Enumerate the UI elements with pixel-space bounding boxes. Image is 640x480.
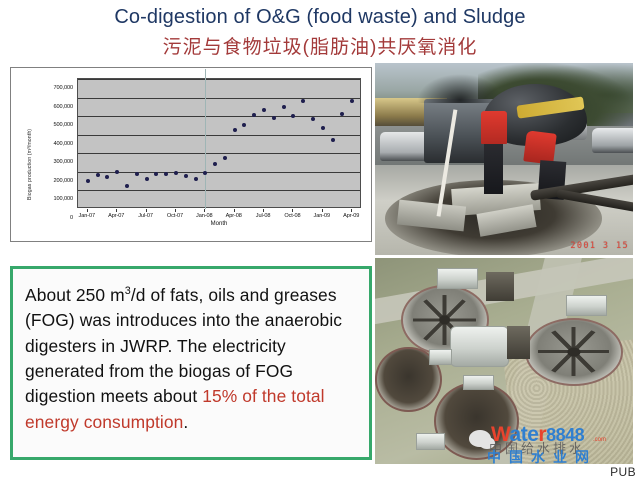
callout-paragraph: About 250 m3/d of fats, oils and greases… [25,279,357,435]
chart-data-point [233,128,237,132]
watermark-letter-r: r [538,423,546,446]
chart-year-divider [205,69,206,209]
chart-data-point [115,170,119,174]
chart-y-tick-label: 0 [70,215,73,221]
watermark-water8848: 中国给水排水 Water8848 .com 中国水业网 [469,420,629,462]
equipment-house-right [566,295,607,316]
chart-x-tickmark [87,209,88,212]
chart-x-tick-label: Oct-08 [284,213,300,219]
chart-x-tick-label: Apr-07 [108,213,124,219]
chart-data-point [105,175,109,179]
chart-gridline [78,98,360,99]
chart-y-tick-label: 700,000 [53,85,73,91]
watermark-brandmark: Water8848 [491,424,584,445]
chart-data-point [301,99,305,103]
photo-grease-collection-truck: 2001 3 15 [375,63,633,255]
clarifier-hub-1 [439,315,451,324]
chart-x-tickmark [263,209,264,212]
chart-x-tickmark [234,209,235,212]
chart-data-point [340,112,344,116]
chart-x-tickmark [351,209,352,212]
watermark-letter-e: e [527,423,538,446]
callout-text-a: About 250 m [25,285,125,305]
chart-gridline [78,172,360,173]
chart-y-tick-label: 600,000 [53,104,73,110]
watermark-chinese-main: 中国水业网 [487,447,597,464]
chart-y-tick-label: 100,000 [53,196,73,202]
parked-car-right [592,128,633,153]
callout-textbox: About 250 m3/d of fats, oils and greases… [10,266,372,460]
chart-x-tickmark [322,209,323,212]
chart-gridline [78,135,360,136]
chart-data-point [262,108,266,112]
chart-x-tickmark [204,209,205,212]
chart-data-point [331,138,335,142]
chart-x-tick-label: Jan-09 [314,213,331,219]
chart-x-tick-label: Jul-08 [256,213,271,219]
worker-standing [481,111,507,194]
chart-y-tick-label: 300,000 [53,159,73,165]
biogas-production-chart: Biogas production (m³/month) 0100,000200… [10,67,372,242]
chart-x-axis-label: Month [77,221,361,227]
concrete-pad [416,433,444,449]
chart-x-tick-label: Jul-07 [138,213,153,219]
callout-period: . [183,412,188,432]
chart-data-point [223,156,227,160]
chart-x-tick-label: Jan-08 [196,213,213,219]
chart-x-tickmark [292,209,293,212]
chart-plot-area [77,78,361,208]
chart-x-tick-label: Jan-07 [79,213,96,219]
chart-gridline [78,190,360,191]
chart-data-point [145,177,149,181]
chart-x-tickmark [146,209,147,212]
photo-top-scene: 2001 3 15 [375,63,633,255]
watermark-letter-a: a [510,423,521,446]
pump-machinery-upper [486,272,514,301]
chart-data-point [194,177,198,181]
wechat-icon [469,430,491,447]
page-title-english: Co-digestion of O&G (food waste) and Slu… [0,6,640,29]
clarifier-tank-right [525,318,623,386]
chart-y-tick-label: 500,000 [53,122,73,128]
chart-gridline [78,116,360,117]
chart-data-point [174,171,178,175]
chart-data-point [350,99,354,103]
watermark-domain-suffix: .com [593,437,606,443]
chart-x-axis-ticks: Jan-07Apr-07Jul-07Oct-07Jan-08Apr-08Jul-… [77,209,361,221]
chart-data-point [311,117,315,121]
chart-x-tick-label: Apr-08 [226,213,242,219]
chart-data-point [164,172,168,176]
chart-y-tick-label: 400,000 [53,141,73,147]
photo-treatment-plant-tanks: 中国给水排水 Water8848 .com 中国水业网 [375,258,633,464]
small-panel-box [429,349,452,365]
worker-standing-shirt [481,111,507,144]
chart-x-tickmark [116,209,117,212]
chart-data-point [321,126,325,130]
chart-y-axis-ticks: 0100,000200,000300,000400,000500,000600,… [33,78,75,208]
chart-gridline [78,153,360,154]
watermark-number: 8848 [546,425,584,445]
pub-logo: PUB [610,465,636,479]
equipment-house-upper [437,268,478,289]
chart-data-point [86,179,90,183]
pump-machinery-center [507,326,530,359]
central-control-kiosk [450,326,509,367]
chart-data-point [213,162,217,166]
chart-x-tickmark [175,209,176,212]
chart-data-point [291,114,295,118]
chart-data-point [242,123,246,127]
chart-data-point [282,105,286,109]
chart-data-point [203,171,207,175]
chart-data-point [135,172,139,176]
chart-data-point [184,174,188,178]
chart-data-point [272,116,276,120]
watermark-letter-w: W [491,423,510,446]
walkway-platform [463,375,494,389]
clarifier-hub-2 [567,347,580,356]
truck-boom-arms [416,73,504,104]
page-title-chinese: 污泥与食物垃圾(脂肪油)共厌氧消化 [0,32,640,59]
chart-x-tick-label: Apr-09 [343,213,359,219]
photo-timestamp: 2001 3 15 [570,241,629,251]
chart-data-point [252,113,256,117]
chart-data-point [154,172,158,176]
chart-data-point [125,184,129,188]
chart-x-tick-label: Oct-07 [167,213,183,219]
chart-data-point [96,173,100,177]
chart-gridline [78,79,360,80]
slide-root: Co-digestion of O&G (food waste) and Slu… [0,0,640,480]
worker-standing-legs [484,144,504,194]
chart-y-tick-label: 200,000 [53,178,73,184]
